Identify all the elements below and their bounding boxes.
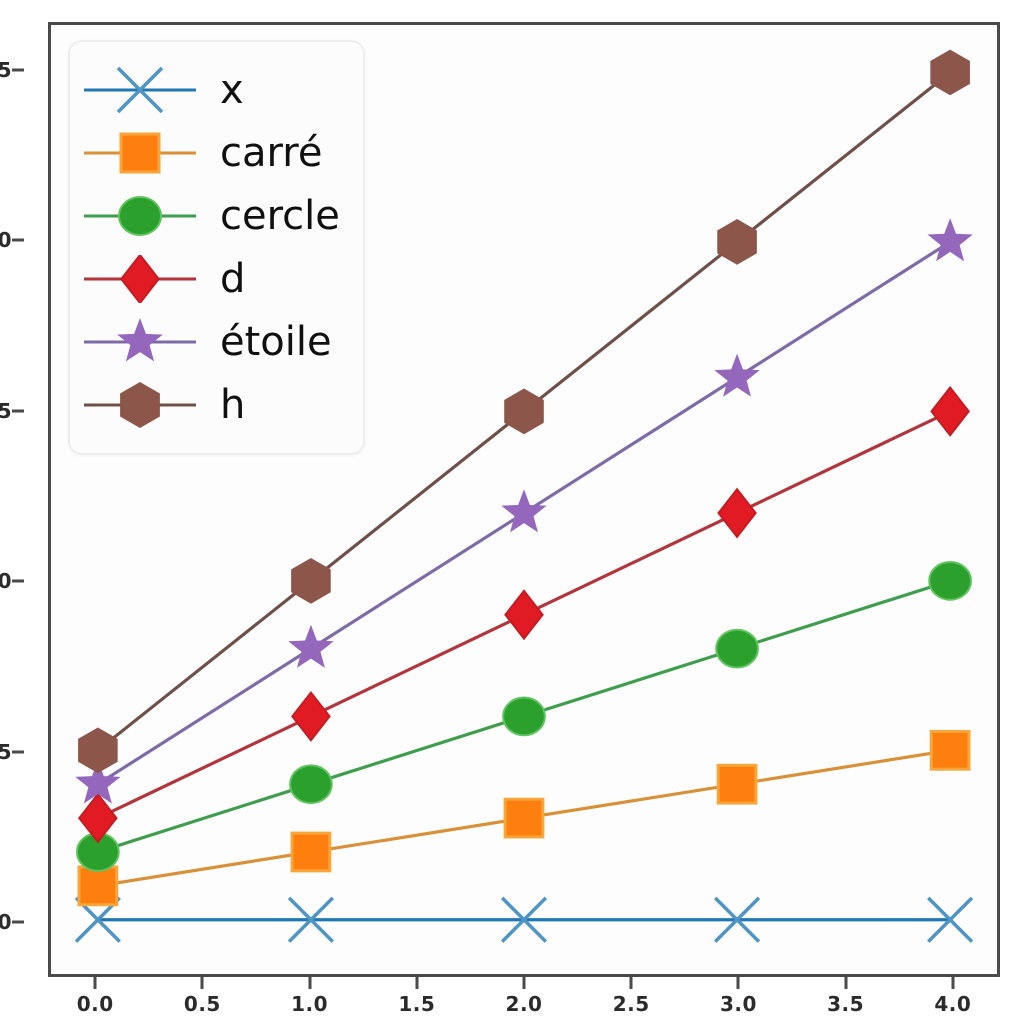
x-tick-mark (201, 977, 204, 989)
x-tick-label: 1.5 (398, 992, 435, 1016)
legend-item-label: d (220, 259, 245, 299)
x-tick-mark (523, 977, 526, 989)
x-tick-label: 2.5 (613, 992, 650, 1016)
y-tick-mark (12, 750, 24, 753)
x-marker (80, 66, 200, 114)
x-tick-mark (951, 977, 954, 989)
legend-item-cercle[interactable]: cercle (70, 185, 363, 247)
hexagon-marker (80, 381, 200, 429)
x-tick-label: 3.0 (720, 992, 757, 1016)
y-tick-mark (12, 239, 24, 242)
legend-box: xcarrécercledétoileh (68, 40, 365, 455)
circle-marker (80, 192, 200, 240)
y-tick-mark (12, 409, 24, 412)
x-tick-mark (737, 977, 740, 989)
x-tick-label: 0.5 (184, 992, 221, 1016)
diamond-marker (80, 255, 200, 303)
x-tick-mark (415, 977, 418, 989)
legend-item-carré[interactable]: carré (70, 122, 363, 184)
legend-item-label: cercle (220, 196, 340, 236)
x-tick-label: 0.0 (77, 992, 114, 1016)
x-tick-mark (308, 977, 311, 989)
star-marker (80, 318, 200, 366)
legend-item-label: h (220, 385, 245, 425)
legend-item-étoile[interactable]: étoile (70, 311, 363, 373)
legend-item-x[interactable]: x (70, 59, 363, 121)
y-tick-mark (12, 921, 24, 924)
legend-item-d[interactable]: d (70, 248, 363, 310)
y-tick-label: 0 (0, 910, 12, 934)
legend-item-h[interactable]: h (70, 374, 363, 436)
y-tick-mark (12, 580, 24, 583)
x-tick-label: 1.0 (291, 992, 328, 1016)
x-tick-label: 2.0 (506, 992, 543, 1016)
y-tick-label: 10 (0, 569, 12, 593)
x-tick-mark (94, 977, 97, 989)
x-tick-mark (630, 977, 633, 989)
series-carré-markers (79, 731, 969, 904)
legend-item-label: étoile (220, 322, 332, 362)
y-tick-label: 25 (0, 58, 12, 82)
y-tick-label: 15 (0, 399, 12, 423)
x-tick-mark (844, 977, 847, 989)
legend-item-label: carré (220, 133, 322, 173)
x-tick-label: 3.5 (827, 992, 864, 1016)
matplotlib-figure: 0510152025 0.00.51.01.52.02.53.03.54.0 x… (0, 0, 1024, 1024)
y-tick-label: 20 (0, 228, 12, 252)
y-tick-mark (12, 68, 24, 71)
legend-item-label: x (220, 70, 244, 110)
y-tick-label: 5 (0, 740, 12, 764)
x-tick-label: 4.0 (934, 992, 971, 1016)
square-marker (80, 129, 200, 177)
series-d-markers (79, 388, 968, 842)
